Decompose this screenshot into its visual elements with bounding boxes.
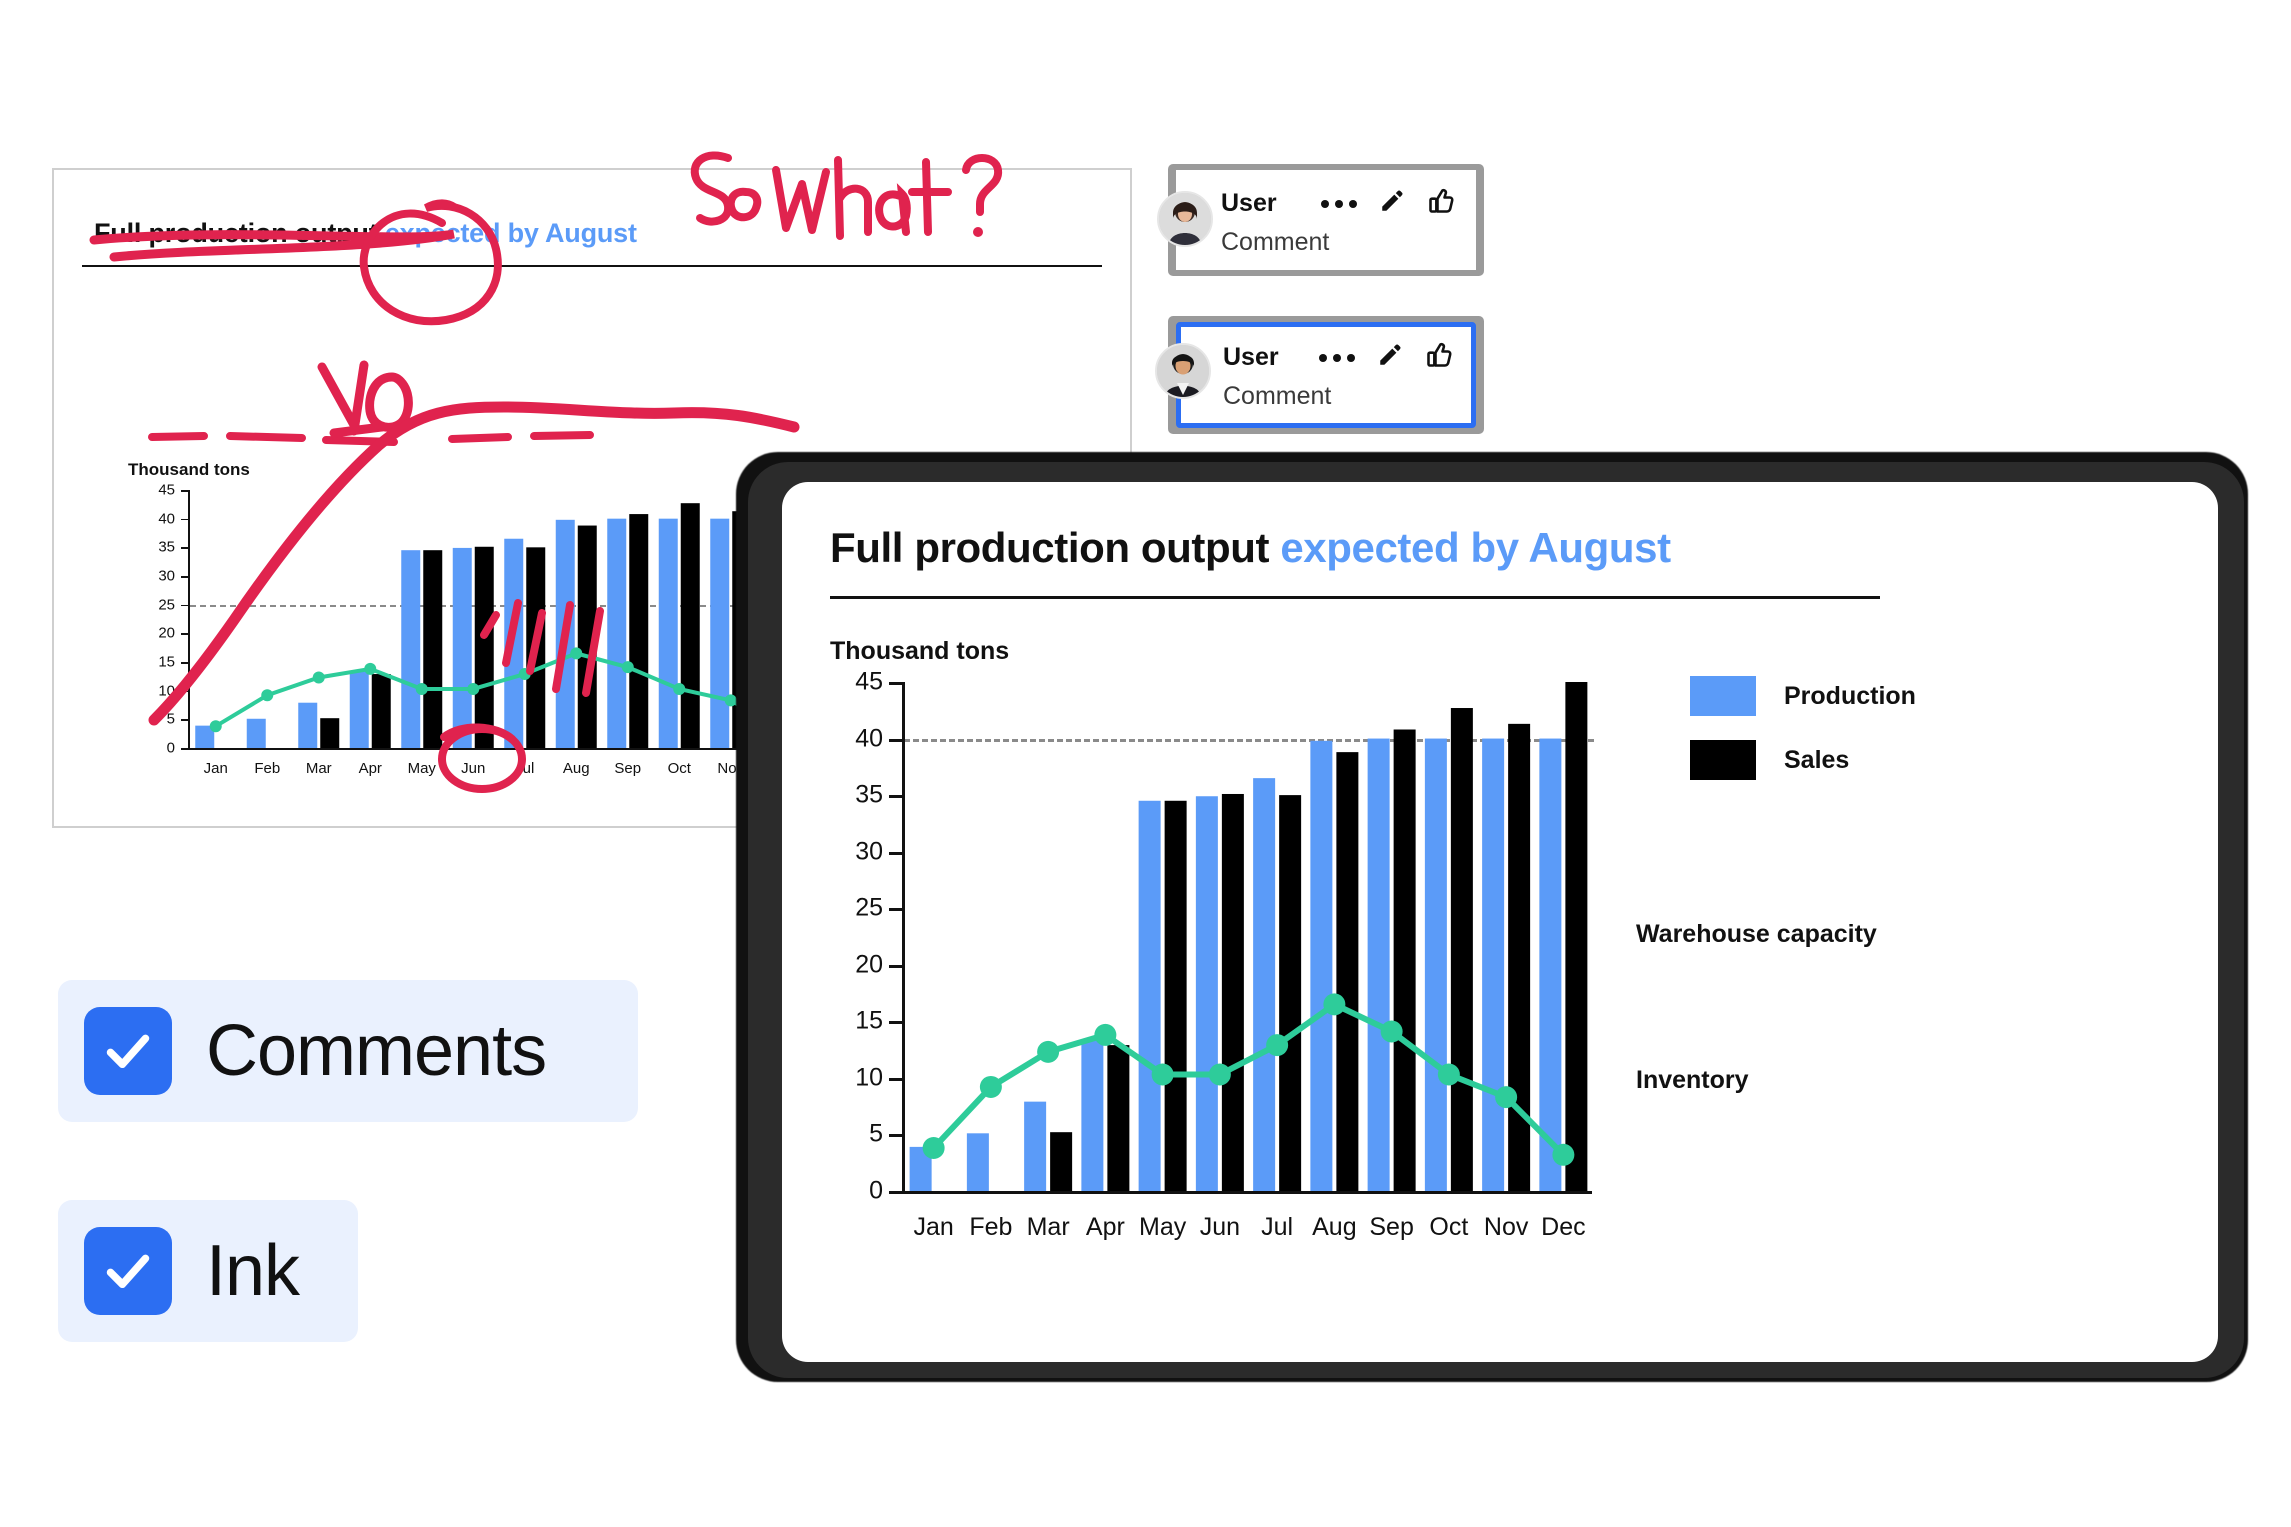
ink-so-what-note bbox=[680, 140, 1010, 270]
comment-text-2[interactable]: Comment bbox=[1181, 374, 1471, 425]
annotation-inventory: Inventory bbox=[1636, 1066, 1749, 1095]
slide-title-blue-main: expected by August bbox=[1280, 524, 1670, 571]
edit-pencil-icon-1[interactable] bbox=[1379, 188, 1405, 219]
like-thumbs-up-icon-2[interactable] bbox=[1425, 341, 1453, 374]
comment-card-2[interactable]: User Comment bbox=[1176, 322, 1476, 428]
unit-label-small: Thousand tons bbox=[128, 460, 250, 480]
comment-text-1[interactable]: Comment bbox=[1179, 220, 1473, 271]
check-icon bbox=[100, 1243, 156, 1299]
slide-title-small: Full production output expected by Augus… bbox=[94, 218, 637, 249]
annotation-warehouse-capacity: Warehouse capacity bbox=[1636, 920, 1877, 949]
avatar-2 bbox=[1155, 343, 1211, 399]
toggle-comments[interactable]: Comments bbox=[58, 980, 638, 1122]
edit-pencil-icon-2[interactable] bbox=[1377, 342, 1403, 373]
legend-swatch-production-main bbox=[1690, 676, 1756, 716]
toggle-label-comments: Comments bbox=[206, 1010, 546, 1092]
title-rule-main bbox=[830, 596, 1880, 599]
legend-swatch-sales-main bbox=[1690, 740, 1756, 780]
checkbox-comments[interactable] bbox=[84, 1007, 172, 1095]
chart-main: 051015202530354045 JanFebMarAprMayJunJul… bbox=[830, 682, 2170, 1302]
slide-title-blue-small: expected by August bbox=[385, 218, 637, 248]
more-options-icon-1[interactable] bbox=[1321, 200, 1357, 208]
legend-label-sales-main: Sales bbox=[1784, 746, 1849, 775]
main-slide-card[interactable]: Full production output expected by Augus… bbox=[782, 482, 2218, 1362]
unit-label-main: Thousand tons bbox=[830, 637, 1009, 666]
slide-title-main: Full production output expected by Augus… bbox=[830, 524, 1671, 572]
check-icon bbox=[100, 1023, 156, 1079]
toggle-label-ink: Ink bbox=[206, 1230, 299, 1312]
avatar-1 bbox=[1157, 191, 1213, 247]
slide-title-black-main: Full production output bbox=[830, 524, 1280, 571]
like-thumbs-up-icon-1[interactable] bbox=[1427, 187, 1455, 220]
comment-user-2: User bbox=[1223, 343, 1279, 372]
chart-svg-main bbox=[830, 682, 1630, 1197]
toggle-ink[interactable]: Ink bbox=[58, 1200, 358, 1342]
legend-label-production-main: Production bbox=[1784, 682, 1916, 711]
ink-text-40 bbox=[322, 365, 382, 433]
more-options-icon-2[interactable] bbox=[1319, 354, 1355, 362]
slide-title-black-small: Full production output bbox=[94, 218, 385, 248]
checkbox-ink[interactable] bbox=[84, 1227, 172, 1315]
comment-user-1: User bbox=[1221, 189, 1277, 218]
comment-card-1[interactable]: User Comment bbox=[1176, 170, 1476, 270]
